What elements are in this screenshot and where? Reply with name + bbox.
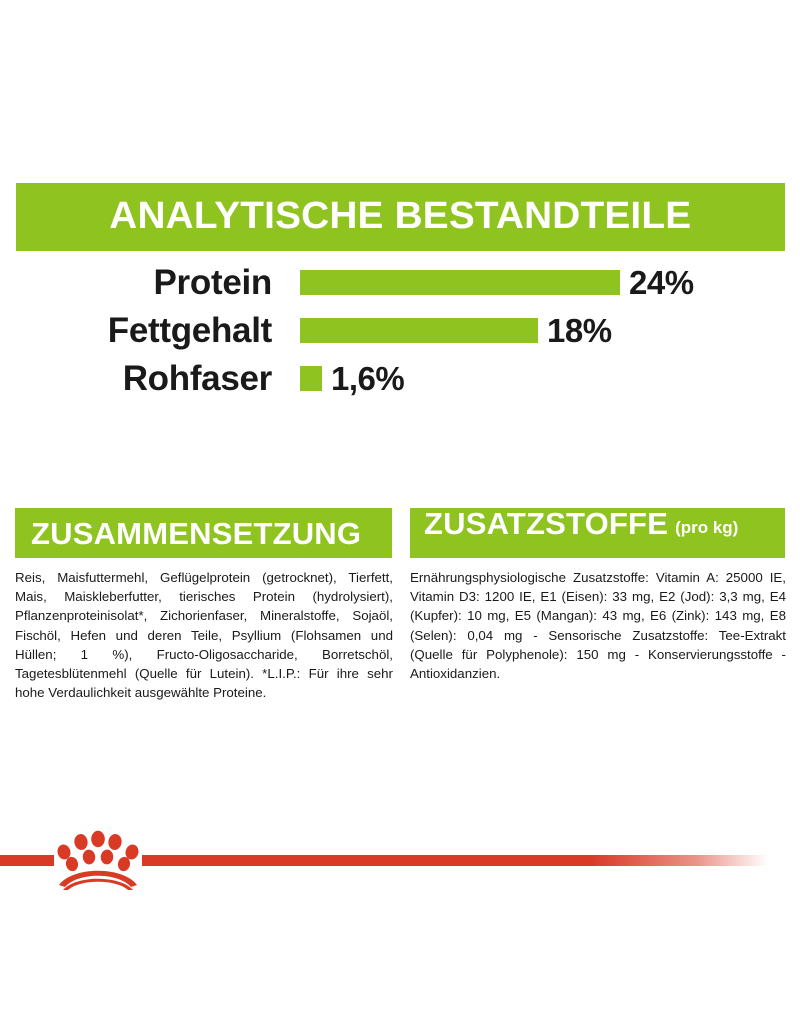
chart-row-protein: Protein 24%	[0, 258, 800, 306]
chart-row-rohfaser: Rohfaser 1,6%	[0, 354, 800, 402]
composition-header: ZUSAMMENSETZUNG	[15, 508, 392, 558]
chart-bar-fettgehalt	[300, 318, 538, 343]
additives-header: ZUSATZSTOFFE (pro kg)	[410, 508, 785, 558]
chart-label-rohfaser: Rohfaser	[0, 361, 272, 396]
chart-value-fettgehalt: 18%	[547, 314, 612, 347]
chart-row-fettgehalt: Fettgehalt 18%	[0, 306, 800, 354]
analytical-constituents-title: ANALYTISCHE BESTANDTEILE	[109, 197, 691, 235]
composition-title: ZUSAMMENSETZUNG	[31, 518, 361, 549]
page-root: ANALYTISCHE BESTANDTEILE Protein 24% Fet…	[0, 0, 800, 1012]
nutrient-bar-chart: Protein 24% Fettgehalt 18% Rohfaser 1,6%	[0, 258, 800, 416]
chart-value-protein: 24%	[629, 266, 694, 299]
analytical-constituents-header: ANALYTISCHE BESTANDTEILE	[16, 183, 785, 251]
additives-title: ZUSATZSTOFFE	[424, 508, 668, 539]
chart-label-fettgehalt: Fettgehalt	[0, 313, 272, 348]
chart-bar-wrap-protein: 24%	[300, 266, 800, 299]
additives-subtitle-per-kg: (pro kg)	[675, 519, 738, 536]
chart-label-protein: Protein	[0, 265, 272, 300]
chart-bar-wrap-rohfaser: 1,6%	[300, 362, 800, 395]
chart-bar-protein	[300, 270, 620, 295]
additives-body-text: Ernährungsphysiologische Zusatzstoffe: V…	[410, 568, 786, 683]
crown-paw-logo	[55, 828, 141, 890]
chart-bar-rohfaser	[300, 366, 322, 391]
composition-body-text: Reis, Maisfuttermehl, Geflügelprotein (g…	[15, 568, 393, 702]
chart-value-rohfaser: 1,6%	[331, 362, 404, 395]
chart-bar-wrap-fettgehalt: 18%	[300, 314, 800, 347]
